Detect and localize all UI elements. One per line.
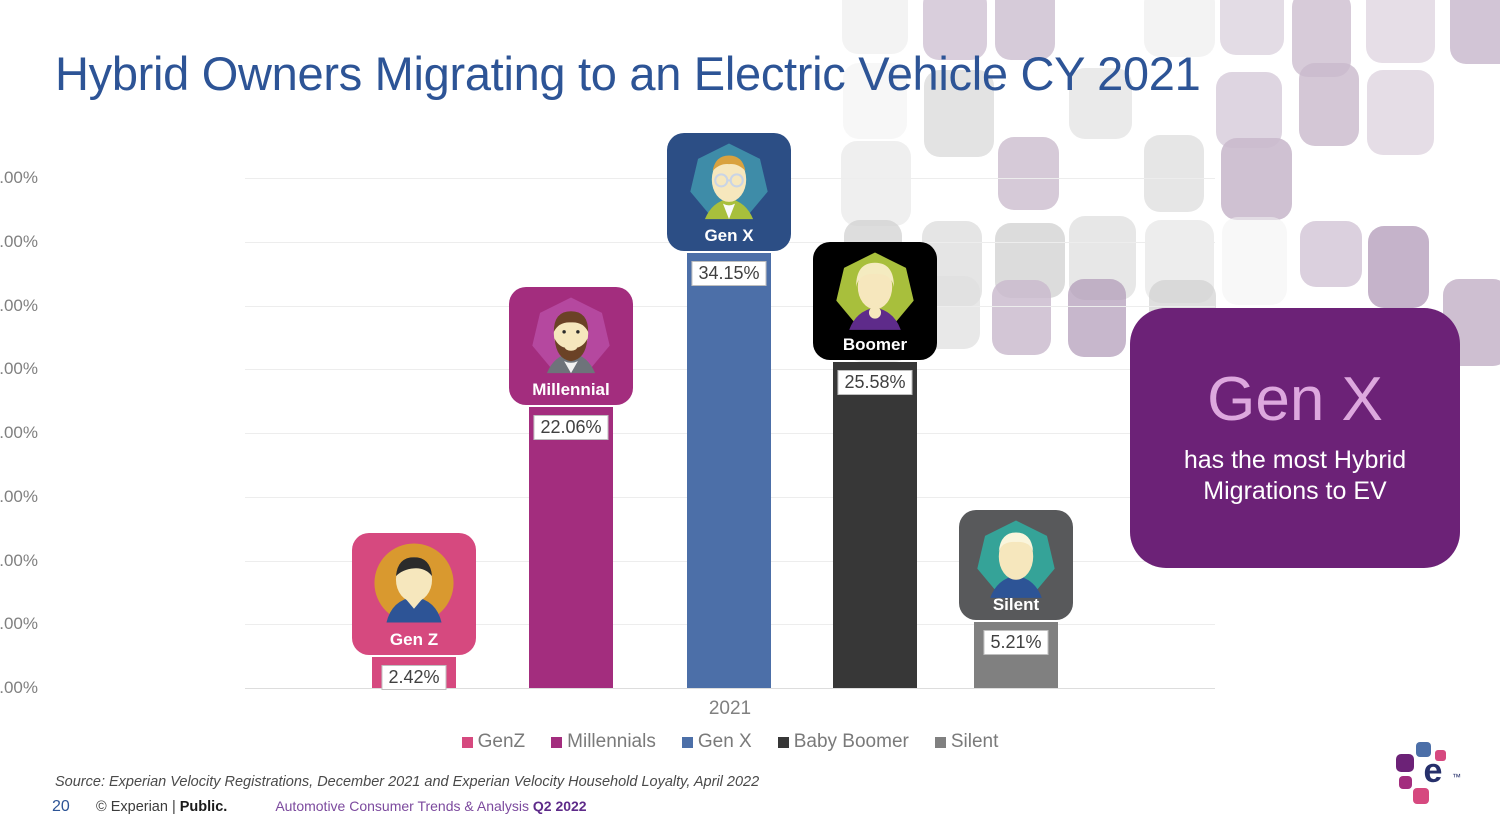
brand-text: Automotive Consumer Trends & Analysis	[275, 798, 533, 814]
bar-baby-boomer[interactable]: 25.58%	[833, 362, 917, 688]
y-axis-tick-label: 20.00%	[0, 423, 38, 443]
page-number: 20	[52, 798, 96, 816]
legend-swatch	[935, 737, 946, 748]
callout-headline: Gen X	[1207, 369, 1383, 431]
bar-silent[interactable]: 5.21%	[974, 622, 1058, 688]
legend-item-gen-x[interactable]: Gen X	[682, 731, 752, 753]
y-axis-tick-label: 5.00%	[0, 614, 38, 634]
decorative-square	[1367, 70, 1434, 155]
bar-gen-x[interactable]: 34.15%	[687, 253, 771, 688]
chart-legend: GenZMillennialsGen XBaby BoomerSilent	[245, 731, 1215, 753]
legend-swatch	[682, 737, 693, 748]
callout-subtext: has the most Hybrid Migrations to EV	[1184, 445, 1406, 508]
source-note: Source: Experian Velocity Registrations,…	[55, 774, 759, 790]
legend-item-silent[interactable]: Silent	[935, 731, 999, 753]
decorative-square	[1368, 226, 1429, 308]
brand-line: Automotive Consumer Trends & Analysis Q2…	[275, 798, 586, 814]
copyright-text: © Experian | Public.	[96, 799, 227, 815]
legend-label: Silent	[951, 731, 999, 753]
avatar-illustration-icon	[528, 294, 614, 385]
bar-value-label: 2.42%	[381, 665, 446, 690]
svg-text:™: ™	[1452, 772, 1461, 782]
legend-label: GenZ	[478, 731, 526, 753]
copyright-classification: Public.	[180, 799, 228, 815]
legend-item-baby-boomer[interactable]: Baby Boomer	[778, 731, 909, 753]
bar-value-label: 5.21%	[983, 630, 1048, 655]
callout-subtext-line2: Migrations to EV	[1184, 476, 1406, 507]
legend-item-millennials[interactable]: Millennials	[551, 731, 656, 753]
bar-chart: 40.00%35.00%30.00%25.00%20.00%15.00%10.0…	[0, 150, 1260, 710]
legend-swatch	[551, 737, 562, 748]
decorative-square	[1220, 0, 1284, 55]
avatar-card-label: Gen Z	[390, 631, 438, 648]
legend-item-genz[interactable]: GenZ	[462, 731, 526, 753]
legend-swatch	[778, 737, 789, 748]
legend-label: Gen X	[698, 731, 752, 753]
decorative-square	[1300, 221, 1362, 287]
avatar-card-boomer: Boomer	[813, 242, 937, 360]
avatar-illustration-icon	[973, 517, 1059, 608]
decorative-square	[1366, 0, 1435, 63]
avatar-illustration-icon	[686, 140, 772, 231]
avatar-card-silent: Silent	[959, 510, 1073, 620]
decorative-square	[1450, 0, 1500, 64]
avatar-illustration-icon	[371, 540, 457, 631]
svg-text:e: e	[1424, 752, 1443, 790]
y-axis-tick-label: 10.00%	[0, 551, 38, 571]
y-axis-tick-label: 0.00%	[0, 678, 38, 698]
bar-millennials[interactable]: 22.06%	[529, 407, 613, 688]
y-axis-tick-label: 30.00%	[0, 296, 38, 316]
brand-quarter: Q2 2022	[533, 798, 587, 814]
decorative-square	[1292, 0, 1351, 77]
bar-value-label: 25.58%	[837, 370, 912, 395]
bar-value-label: 22.06%	[533, 415, 608, 440]
legend-label: Millennials	[567, 731, 656, 753]
callout-box: Gen X has the most Hybrid Migrations to …	[1130, 308, 1460, 568]
y-axis-tick-label: 15.00%	[0, 487, 38, 507]
footer-bar: 20 © Experian | Public. Automotive Consu…	[52, 798, 587, 816]
callout-subtext-line1: has the most Hybrid	[1184, 445, 1406, 476]
bar-value-label: 34.15%	[691, 261, 766, 286]
avatar-card-gen-x: Gen X	[667, 133, 791, 251]
page-title: Hybrid Owners Migrating to an Electric V…	[55, 46, 1200, 101]
avatar-card-gen-z: Gen Z	[352, 533, 476, 655]
legend-swatch	[462, 737, 473, 748]
avatar-illustration-icon	[832, 249, 918, 340]
bar-genz[interactable]: 2.42%	[372, 657, 456, 688]
x-axis-category-label: 2021	[245, 698, 1215, 720]
y-axis-tick-label: 40.00%	[0, 168, 38, 188]
legend-label: Baby Boomer	[794, 731, 909, 753]
experian-logo: e ™	[1388, 740, 1468, 810]
y-axis-tick-label: 35.00%	[0, 232, 38, 252]
y-axis-tick-label: 25.00%	[0, 359, 38, 379]
decorative-square	[1299, 63, 1359, 146]
avatar-card-millennial: Millennial	[509, 287, 633, 405]
decorative-square	[1216, 72, 1282, 148]
copyright-prefix: © Experian |	[96, 799, 180, 815]
